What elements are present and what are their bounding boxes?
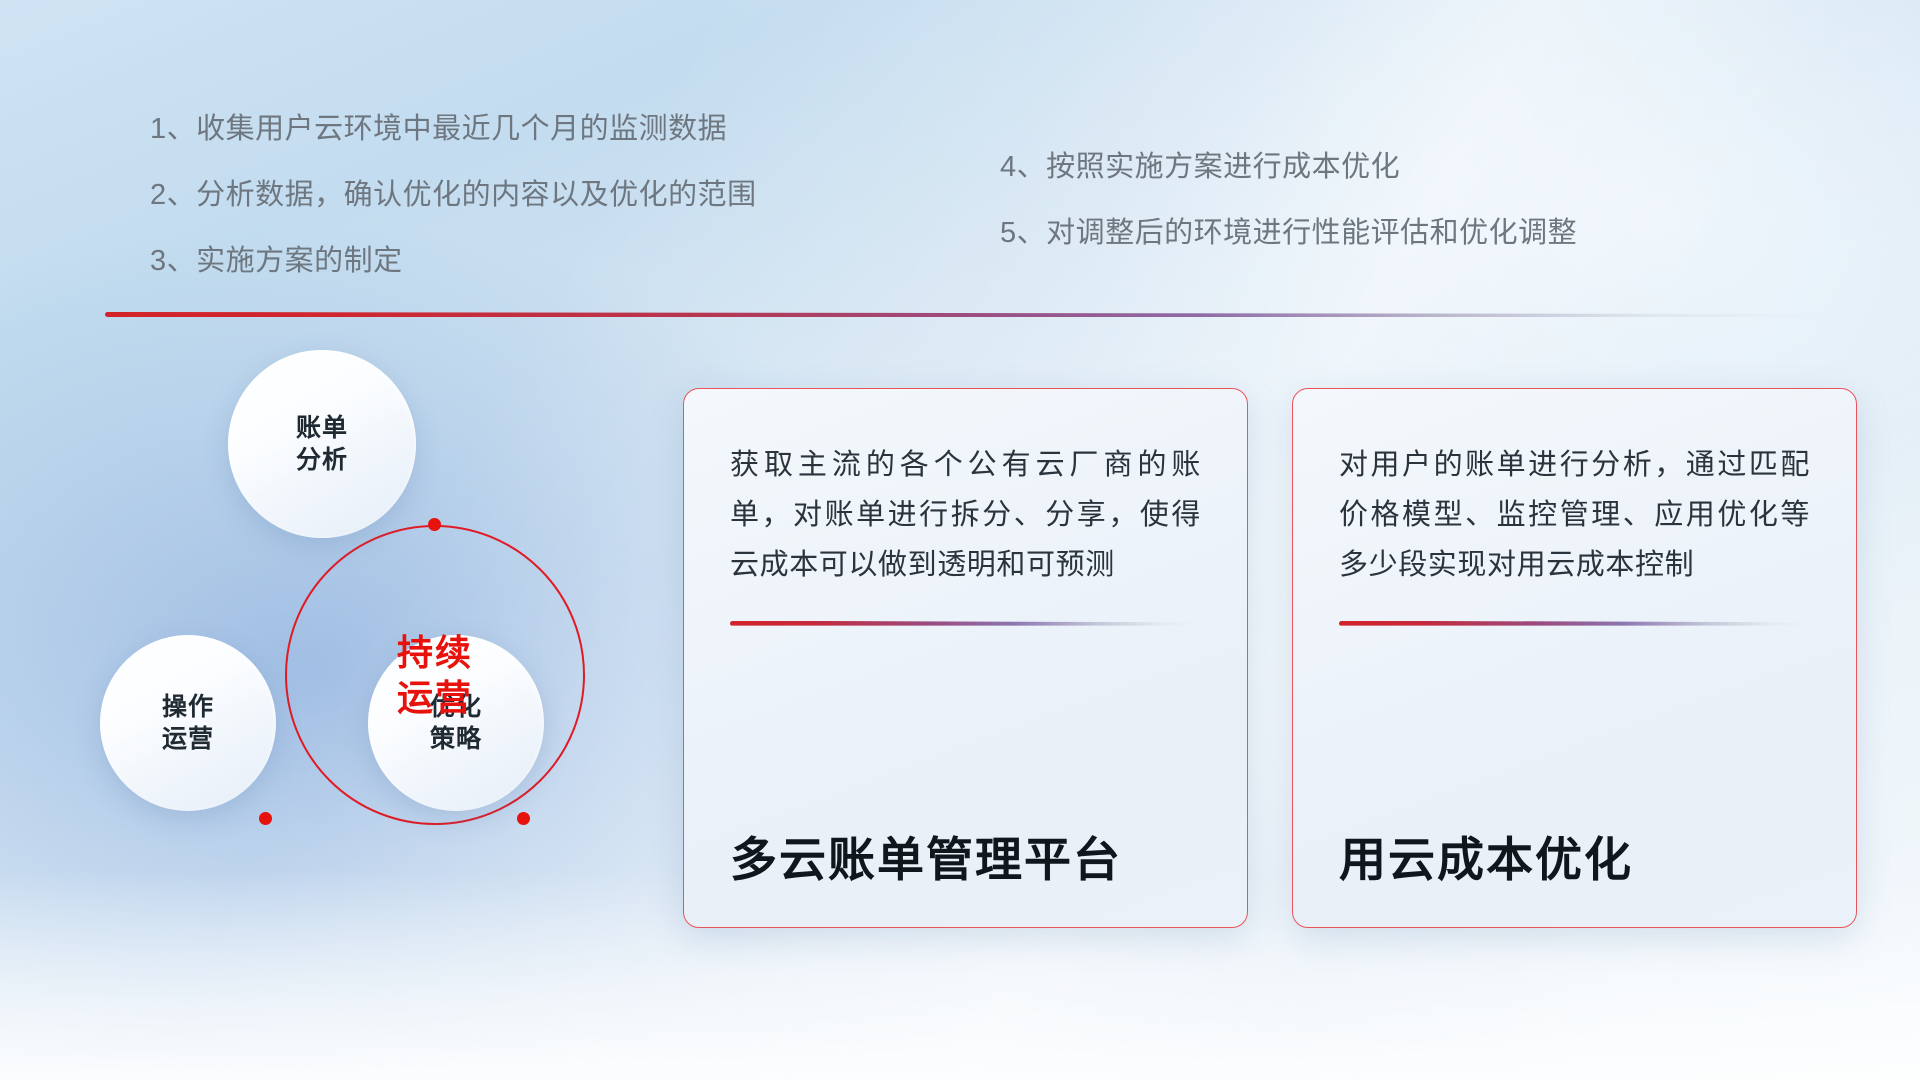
center-label-line1: 持续 [397, 630, 473, 675]
connector-dot-left-icon [259, 812, 272, 825]
diagram-node-operations[interactable]: 操作 运营 [100, 635, 276, 811]
step-number-2: 2、 [150, 179, 196, 211]
step-number-1: 1、 [150, 113, 196, 145]
cycle-diagram: 账单 分析 操作 运营 优化 策略 持续 运营 [100, 350, 660, 950]
card-title: 多云账单管理平台 [730, 833, 1201, 893]
connector-dot-top-icon [428, 518, 441, 531]
step-item-3: 3、实施方案的制定 [150, 247, 757, 276]
info-card-multicloud-billing[interactable]: 获取主流的各个公有云厂商的账单，对账单进行拆分、分享，使得云成本可以做到透明和可… [683, 388, 1248, 928]
step-text-1: 收集用户云环境中最近几个月的监测数据 [196, 113, 727, 145]
step-text-4: 按照实施方案进行成本优化 [1046, 151, 1400, 183]
step-number-4: 4、 [1000, 151, 1046, 183]
card-divider [1339, 621, 1810, 626]
step-item-2: 2、分析数据，确认优化的内容以及优化的范围 [150, 181, 757, 210]
step-item-4: 4、按照实施方案进行成本优化 [1000, 153, 1577, 182]
diagram-node-billing-analysis[interactable]: 账单 分析 [228, 350, 416, 538]
steps-list-right: 4、按照实施方案进行成本优化 5、对调整后的环境进行性能评估和优化调整 [1000, 153, 1577, 285]
node-label-line1: 操作 [162, 691, 214, 724]
step-number-5: 5、 [1000, 217, 1046, 249]
connector-dot-right-icon [517, 812, 530, 825]
diagram-center-label: 持续 运营 [285, 525, 585, 825]
card-title: 用云成本优化 [1339, 833, 1810, 893]
step-item-5: 5、对调整后的环境进行性能评估和优化调整 [1000, 219, 1577, 248]
steps-list-left: 1、收集用户云环境中最近几个月的监测数据 2、分析数据，确认优化的内容以及优化的… [150, 115, 757, 313]
step-text-2: 分析数据，确认优化的内容以及优化的范围 [196, 179, 757, 211]
info-card-cloud-cost-optimization[interactable]: 对用户的账单进行分析，通过匹配价格模型、监控管理、应用优化等多少段实现对用云成本… [1292, 388, 1857, 928]
card-body-text: 对用户的账单进行分析，通过匹配价格模型、监控管理、应用优化等多少段实现对用云成本… [1339, 441, 1810, 591]
step-text-5: 对调整后的环境进行性能评估和优化调整 [1046, 217, 1577, 249]
slide-canvas: 1、收集用户云环境中最近几个月的监测数据 2、分析数据，确认优化的内容以及优化的… [0, 0, 1920, 1080]
node-label-line2: 分析 [296, 444, 348, 477]
step-item-1: 1、收集用户云环境中最近几个月的监测数据 [150, 115, 757, 144]
card-divider [730, 621, 1201, 626]
step-text-3: 实施方案的制定 [196, 245, 403, 277]
card-body-text: 获取主流的各个公有云厂商的账单，对账单进行拆分、分享，使得云成本可以做到透明和可… [730, 441, 1201, 591]
step-number-3: 3、 [150, 245, 196, 277]
node-label-line1: 账单 [296, 412, 348, 445]
node-label-line2: 运营 [162, 723, 214, 756]
center-label-line2: 运营 [397, 675, 473, 720]
